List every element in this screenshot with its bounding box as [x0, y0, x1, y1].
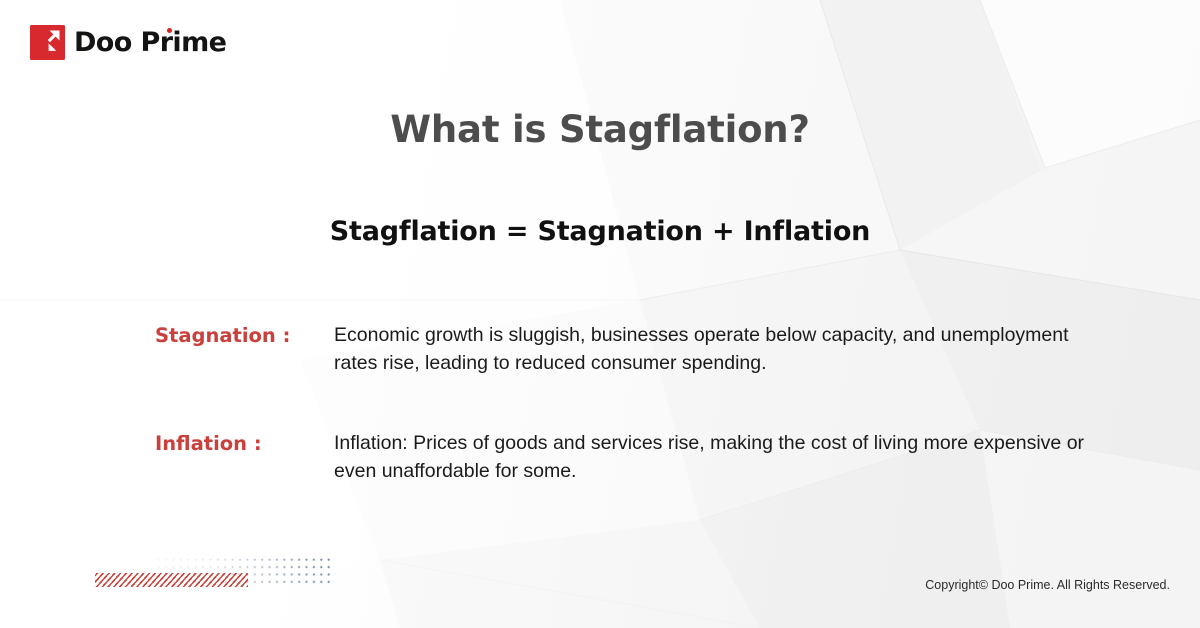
slide-canvas: Doo Prime What is Stagflation? Stagflati… [0, 0, 1200, 628]
brand-wordmark-text: Doo Prime [74, 27, 226, 58]
definition-list: Stagnation : Economic growth is sluggish… [155, 322, 1135, 486]
brand-logo[interactable]: Doo Prime [30, 25, 226, 60]
stagflation-equation: Stagflation = Stagnation + Inflation [0, 216, 1200, 247]
definition-row-inflation: Inflation : Inflation: Prices of goods a… [155, 430, 1135, 485]
definition-description-stagnation: Economic growth is sluggish, businesses … [334, 322, 1104, 377]
definition-term-stagnation: Stagnation : [155, 322, 334, 350]
definition-row-stagnation: Stagnation : Economic growth is sluggish… [155, 322, 1135, 377]
copyright-text: Copyright© Doo Prime. All Rights Reserve… [925, 578, 1170, 592]
page-title: What is Stagflation? [0, 108, 1200, 151]
definition-description-inflation: Inflation: Prices of goods and services … [334, 430, 1104, 485]
definition-term-inflation: Inflation : [155, 430, 334, 458]
background-facets [0, 0, 1200, 628]
hatch-bar-decoration [95, 573, 248, 587]
doo-prime-logo-mark [30, 25, 65, 60]
footer-decoration [95, 556, 355, 590]
brand-wordmark: Doo Prime [74, 29, 226, 56]
